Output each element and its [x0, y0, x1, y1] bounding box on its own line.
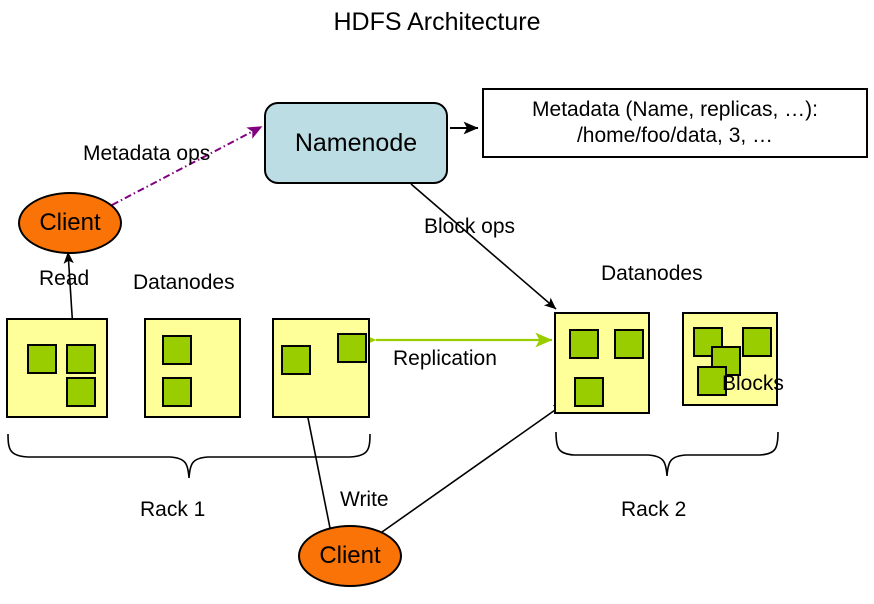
block: [574, 377, 604, 407]
block: [742, 327, 772, 357]
edge-block-ops: [411, 184, 556, 309]
metadata-line-2: /home/foo/data, 3, …: [577, 123, 773, 149]
label-read: Read: [39, 268, 89, 289]
namenode-box[interactable]: Namenode: [264, 102, 448, 184]
block: [27, 344, 57, 374]
rack-1-brace: [8, 434, 370, 478]
metadata-line-1: Metadata (Name, replicas, …):: [532, 97, 818, 123]
label-rack-2: Rack 2: [621, 499, 686, 520]
client-bottom-label: Client: [319, 542, 380, 570]
block: [162, 335, 192, 365]
datanode-rack1-2[interactable]: [144, 318, 241, 418]
block: [162, 377, 192, 407]
block: [569, 329, 599, 359]
label-replication: Replication: [393, 348, 497, 369]
edge-write-to-dn4: [382, 403, 565, 532]
datanode-rack1-1[interactable]: [6, 318, 108, 418]
metadata-box: Metadata (Name, replicas, …): /home/foo/…: [482, 88, 868, 158]
datanode-rack2-1[interactable]: [554, 312, 650, 414]
label-blocks: Blocks: [722, 373, 784, 394]
block: [337, 333, 367, 363]
edge-metadata-ops: [112, 127, 261, 205]
block: [66, 344, 96, 374]
client-top-label: Client: [39, 209, 100, 237]
label-write: Write: [340, 489, 389, 510]
hdfs-architecture-diagram: HDFS Architecture: [0, 0, 874, 604]
label-metadata-ops: Metadata ops: [83, 143, 210, 164]
page-title: HDFS Architecture: [0, 10, 874, 35]
client-node-top[interactable]: Client: [18, 192, 122, 254]
label-datanodes-rack1: Datanodes: [133, 272, 235, 293]
label-block-ops: Block ops: [424, 216, 515, 237]
namenode-label: Namenode: [295, 129, 417, 158]
block: [614, 329, 644, 359]
block: [66, 377, 96, 407]
rack-2-brace: [556, 432, 778, 476]
label-datanodes-rack2: Datanodes: [601, 263, 703, 284]
block: [281, 345, 311, 375]
label-rack-1: Rack 1: [140, 499, 205, 520]
client-node-bottom[interactable]: Client: [298, 525, 402, 587]
datanode-rack1-3[interactable]: [272, 318, 370, 418]
